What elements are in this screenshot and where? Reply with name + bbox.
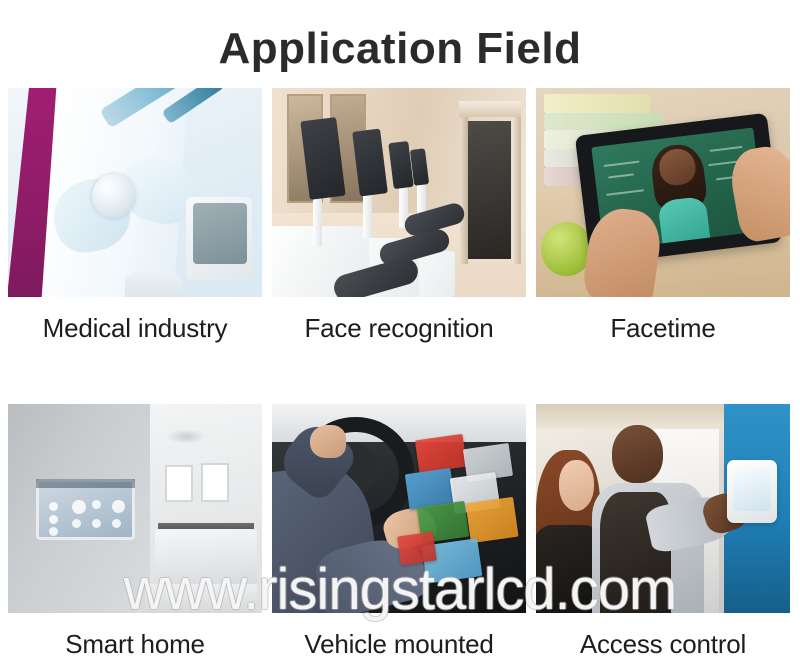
application-card-medical-industry[interactable]: Medical industry xyxy=(8,88,262,344)
application-field-page: Application Field Medical industry xyxy=(0,0,800,628)
grid-row: Smart home xyxy=(8,404,792,660)
card-caption: Smart home xyxy=(8,629,262,660)
face-recognition-image xyxy=(272,88,526,297)
smart-home-image xyxy=(8,404,262,613)
application-card-smart-home[interactable]: Smart home xyxy=(8,404,262,660)
card-caption: Vehicle mounted xyxy=(272,629,526,660)
application-card-face-recognition[interactable]: Face recognition xyxy=(272,88,526,344)
card-caption: Access control xyxy=(536,629,790,660)
grid-row: Medical industry xyxy=(8,88,792,344)
card-caption: Facetime xyxy=(536,313,790,344)
card-caption: Face recognition xyxy=(272,313,526,344)
page-title: Application Field xyxy=(0,24,800,74)
medical-industry-image xyxy=(8,88,262,297)
card-caption: Medical industry xyxy=(8,313,262,344)
access-control-image xyxy=(536,404,790,613)
application-card-facetime[interactable]: Facetime xyxy=(536,88,790,344)
facetime-image xyxy=(536,88,790,297)
application-card-access-control[interactable]: Access control xyxy=(536,404,790,660)
application-card-vehicle-mounted[interactable]: Vehicle mounted xyxy=(272,404,526,660)
application-grid: Medical industry xyxy=(8,88,792,660)
vehicle-mounted-image xyxy=(272,404,526,613)
